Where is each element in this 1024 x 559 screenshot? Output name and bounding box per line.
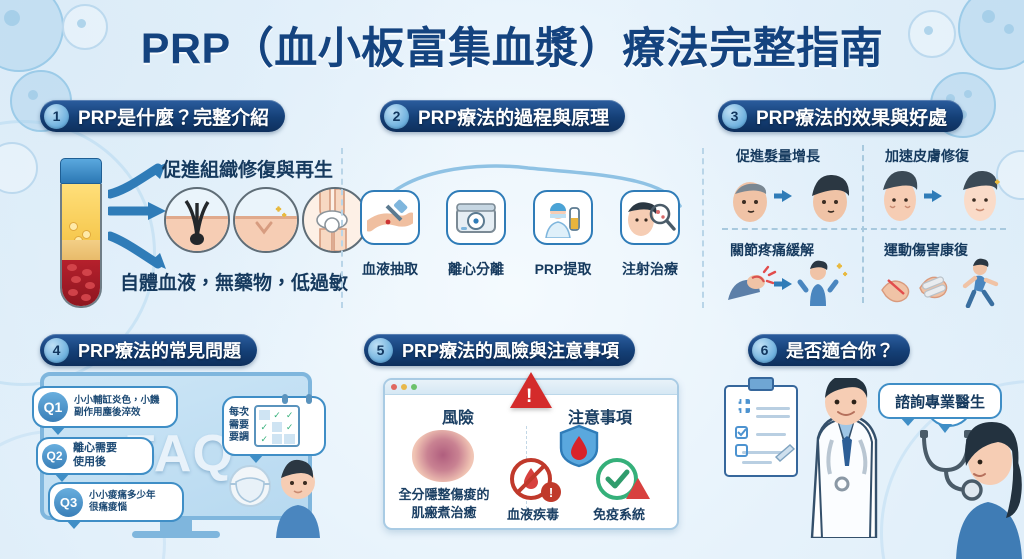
consult-doctor-label: 諮詢專業醫生: [895, 391, 985, 412]
blood-tube-icon: [60, 158, 102, 308]
section-title-5: PRP療法的風險與注意事項: [402, 337, 619, 363]
calendar-note-text: 每次 需要 要調: [229, 407, 249, 445]
benefit-divider-vertical: [862, 145, 864, 303]
section-number-2: 2: [384, 104, 409, 129]
doctor-vial-icon: [533, 190, 593, 245]
faq-text-q3: 小小痠痛多少年 很痛痠惱: [89, 490, 156, 514]
arrow-up-icon: [108, 160, 168, 200]
section-number-1: 1: [44, 104, 69, 129]
syringe-arm-icon: [360, 190, 420, 245]
section1-bottom-label: 自體血液，無藥物，低過敏: [120, 268, 348, 295]
calendar-note-bubble[interactable]: 每次 需要 要調 ✓✓ ✓✓ ✓: [222, 396, 326, 456]
section-title-6: 是否適合你？: [786, 337, 894, 363]
section-header-4: 4 PRP療法的常見問題: [40, 334, 257, 366]
sports-injury-recovery-icon: [876, 258, 1010, 308]
precaution-1-label: 血液疾毒: [500, 504, 566, 523]
calendar-ring-right: [306, 394, 312, 404]
section-title-3: PRP療法的效果與好處: [756, 103, 947, 130]
warning-exclamation: !: [526, 386, 532, 408]
process-step-4: 注射治療: [620, 190, 680, 279]
process-step-2: 離心分離: [446, 190, 506, 279]
hair-growth-icon: [726, 168, 860, 224]
faq-tag-q3: Q3: [54, 488, 83, 517]
calendar-icon: ✓✓ ✓✓ ✓: [254, 405, 300, 447]
panel-divider: [341, 148, 343, 308]
section-number-4: 4: [44, 338, 69, 363]
benefit-1-label: 促進髮量增長: [736, 146, 820, 166]
section-number-6: 6: [752, 338, 777, 363]
injection-face-icon: [620, 190, 680, 245]
process-step-3-label: PRP提取: [533, 259, 593, 279]
process-step-3: PRP提取: [533, 190, 593, 279]
precaution-column-title: 注意事項: [535, 404, 665, 428]
skin-repair-icon: [876, 168, 1010, 224]
arrow-down-icon: [108, 230, 168, 272]
section-header-2: 2 PRP療法的過程與原理: [380, 100, 625, 132]
arrow-right-icon: [108, 196, 168, 226]
clipboard-clip: [748, 377, 774, 391]
risk-caption: 全分隱整傷痠的 肌瘢煮治癒: [392, 486, 496, 521]
section-number-3: 3: [722, 104, 747, 129]
consult-doctor-bubble[interactable]: 諮詢專業醫生: [878, 383, 1002, 419]
infographic-canvas: PRP（血小板富集血漿）療法完整指南 1 PRP是什麼？完整介紹 促進組織修復與…: [0, 0, 1024, 559]
process-step-2-label: 離心分離: [446, 259, 506, 279]
risk-column-title: 風險: [403, 404, 513, 428]
window-dot-red[interactable]: [391, 384, 397, 390]
clipboard-checklist-icon: [724, 385, 798, 477]
section-header-1: 1 PRP是什麼？完整介紹: [40, 100, 285, 132]
benefit-2-label: 加速皮膚修復: [885, 146, 969, 166]
window-dot-yellow[interactable]: [401, 384, 407, 390]
window-dot-green[interactable]: [411, 384, 417, 390]
person-with-mask-icon: [222, 452, 332, 538]
section-header-3: 3 PRP療法的效果與好處: [718, 100, 963, 132]
faq-item-3[interactable]: Q3 小小痠痛多少年 很痛痠惱: [48, 482, 184, 522]
page-title: PRP（血小板富集血漿）療法完整指南: [0, 14, 1024, 76]
section-header-6: 6 是否適合你？: [748, 334, 910, 366]
joint-pain-relief-icon: [722, 260, 856, 308]
centrifuge-icon: [446, 190, 506, 245]
benefit-3-label: 關節疼痛緩解: [730, 240, 814, 260]
section-number-5: 5: [368, 338, 393, 363]
precaution-2-label: 免疫系統: [586, 504, 652, 523]
process-step-1: 血液抽取: [360, 190, 420, 279]
patient-icon: [940, 420, 1024, 559]
faq-item-2[interactable]: Q2 離心需要 使用後: [36, 437, 154, 475]
benefit-divider-horizontal: [722, 228, 1006, 230]
benefit-4-label: 運動傷害康復: [884, 240, 968, 260]
section-title-2: PRP療法的過程與原理: [418, 103, 609, 130]
blood-drop-badge: !: [541, 482, 561, 502]
check-warning-badge: [626, 478, 650, 499]
faq-text-q1: 小小輔缸炎色，小饑 副作用塵後淬效: [74, 395, 160, 419]
section-header-5: 5 PRP療法的風險與注意事項: [364, 334, 635, 366]
section-title-4: PRP療法的常見問題: [78, 337, 241, 363]
calendar-ring-left: [282, 394, 288, 404]
hair-follicle-icon: [164, 187, 230, 253]
process-step-1-label: 血液抽取: [360, 259, 420, 279]
process-step-4-label: 注射治療: [620, 259, 680, 279]
section1-top-label: 促進組織修復與再生: [162, 155, 333, 182]
panel-divider: [702, 148, 704, 308]
monitor-base: [132, 531, 220, 538]
section-title-1: PRP是什麼？完整介紹: [78, 103, 269, 130]
blood-shield-icon: [558, 424, 600, 468]
faq-tag-q1: Q1: [38, 392, 68, 422]
faq-text-q2: 離心需要 使用後: [73, 442, 117, 470]
skin-wrinkle-icon: [233, 187, 299, 253]
faq-item-1[interactable]: Q1 小小輔缸炎色，小饑 副作用塵後淬效: [32, 386, 178, 428]
faq-tag-q2: Q2: [42, 444, 67, 469]
skin-bruise-icon: [412, 430, 474, 482]
knee-joint-icon: [302, 187, 368, 253]
